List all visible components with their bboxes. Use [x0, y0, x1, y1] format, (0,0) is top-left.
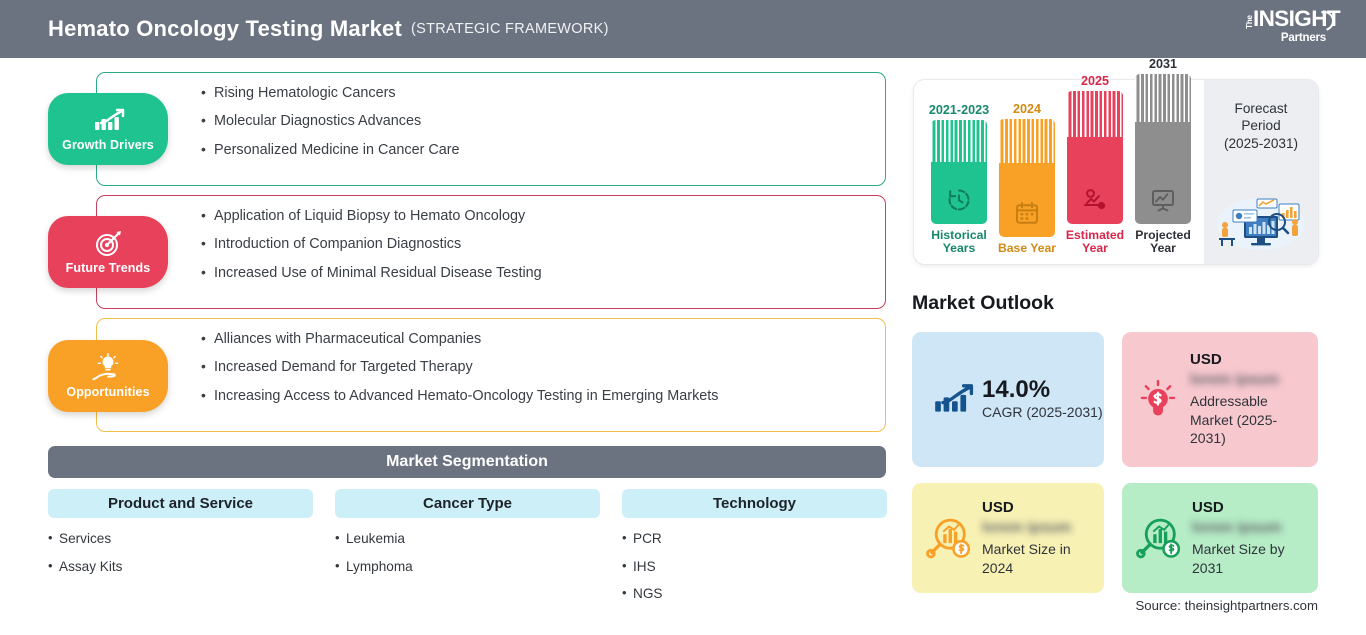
list-item: Increasing Access to Advanced Hemato-Onc… [201, 389, 871, 403]
infographic-page: Hemato Oncology Testing Market (STRATEGI… [0, 0, 1366, 635]
clock-history-icon [946, 187, 972, 213]
forecast-timeline-panel: 2021-2023 Historical Years 2024 [914, 80, 1318, 264]
market-size-2031-usd-label: USD [1192, 499, 1300, 516]
segment-header: Technology [622, 489, 887, 518]
opportunities-bullets: Alliances with Pharmaceutical Companies … [97, 319, 885, 416]
segment-items: PCR IHS NGS [622, 532, 887, 601]
magnifier-chart-dollar-icon [926, 515, 972, 561]
badge-growth-drivers[interactable]: Growth Drivers [48, 93, 168, 165]
forecast-year: 2024 [996, 102, 1058, 116]
bar-stripe-pattern [1067, 91, 1123, 137]
lightbulb-hand-icon [91, 353, 125, 383]
forecast-period-line1: Forecast [1204, 100, 1318, 117]
forecast-year: 2025 [1064, 74, 1126, 88]
forecast-period-panel: Forecast Period (2025-2031) [1204, 80, 1318, 264]
bar-chart-arrow-up-icon [91, 106, 125, 136]
logo-partners-text: Partners [1212, 33, 1326, 45]
list-item: NGS [622, 587, 887, 601]
growth-drivers-bullets: Rising Hematologic Cancers Molecular Dia… [97, 73, 885, 170]
forecast-period-line2: Period [1204, 117, 1318, 134]
bar-stripe-pattern [931, 120, 987, 162]
forecast-label: Projected Year [1132, 229, 1194, 256]
list-item: PCR [622, 532, 887, 546]
list-item: Lymphoma [335, 560, 600, 574]
segmentation-column-technology: Technology PCR IHS NGS [622, 489, 887, 615]
bar-stripe-pattern [999, 119, 1055, 163]
market-outlook-title: Market Outlook [912, 292, 1054, 315]
forecast-label: Estimated Year [1064, 229, 1126, 256]
market-size-2024-usd-label: USD [982, 499, 1090, 516]
future-trends-box: Application of Liquid Biopsy to Hemato O… [96, 195, 886, 309]
list-item: Rising Hematologic Cancers [201, 86, 871, 100]
addressable-caption: Addressable Market (2025-2031) [1190, 392, 1298, 449]
cagr-value: 14.0% [982, 377, 1103, 402]
forecast-period-range: (2025-2031) [1204, 135, 1318, 152]
forecast-chart-icon [1082, 187, 1108, 213]
forecast-year: 2021-2023 [928, 103, 990, 117]
addressable-usd-label: USD [1190, 351, 1298, 368]
cagr-caption: CAGR (2025-2031) [982, 403, 1103, 422]
growth-drivers-box: Rising Hematologic Cancers Molecular Dia… [96, 72, 886, 186]
magnifier-chart-dollar-icon [1136, 515, 1182, 561]
target-dart-icon [91, 229, 125, 259]
page-subtitle: (STRATEGIC FRAMEWORK) [411, 21, 609, 37]
page-header: Hemato Oncology Testing Market (STRATEGI… [0, 0, 1366, 58]
list-item: Increased Use of Minimal Residual Diseas… [201, 266, 871, 280]
card-addressable-market[interactable]: USD lorem ipsum Addressable Market (2025… [1122, 332, 1318, 467]
calendar-icon [1014, 200, 1040, 226]
badge-label: Future Trends [66, 261, 151, 275]
card-market-size-2024[interactable]: USD lorem ipsum Market Size in 2024 [912, 483, 1104, 593]
forecast-bar-historical: 2021-2023 Historical Years [928, 103, 990, 256]
badge-label: Opportunities [66, 385, 149, 399]
badge-opportunities[interactable]: Opportunities [48, 340, 168, 412]
badge-label: Growth Drivers [62, 138, 154, 152]
list-item: Introduction of Companion Diagnostics [201, 237, 871, 251]
forecast-bar-base: 2024 [996, 102, 1058, 256]
segmentation-column-product-and-service: Product and Service Services Assay Kits [48, 489, 313, 587]
segment-items: Leukemia Lymphoma [335, 532, 600, 573]
list-item: Application of Liquid Biopsy to Hemato O… [201, 209, 871, 223]
market-size-2031-caption: Market Size by 2031 [1192, 540, 1300, 578]
lightbulb-dollar-icon [1136, 377, 1180, 423]
card-cagr[interactable]: 14.0% CAGR (2025-2031) [912, 332, 1104, 467]
list-item: Molecular Diagnostics Advances [201, 114, 871, 128]
forecast-bar-shape [931, 120, 987, 224]
list-item: Services [48, 532, 313, 546]
list-item: IHS [622, 560, 887, 574]
forecast-label: Base Year [996, 242, 1058, 256]
market-size-2024-value-blurred: lorem ipsum [982, 519, 1090, 536]
market-size-2031-value-blurred: lorem ipsum [1192, 519, 1300, 536]
data-analysis-illustration [1211, 194, 1311, 250]
bar-stripe-pattern [1135, 74, 1191, 122]
source-attribution: Source: theinsightpartners.com [1135, 598, 1318, 613]
forecast-bars: 2021-2023 Historical Years 2024 [914, 80, 1204, 264]
forecast-bar-estimated: 2025 Estimated Year [1064, 74, 1126, 256]
segment-header: Cancer Type [335, 489, 600, 518]
market-segmentation-title: Market Segmentation [48, 446, 886, 478]
segment-items: Services Assay Kits [48, 532, 313, 573]
page-title: Hemato Oncology Testing Market [48, 16, 402, 42]
forecast-bar-projected: 2031 Projected Year [1132, 57, 1194, 256]
list-item: Alliances with Pharmaceutical Companies [201, 332, 871, 346]
logo-the-text: The [1246, 15, 1254, 29]
forecast-year: 2031 [1132, 57, 1194, 71]
list-item: Personalized Medicine in Cancer Care [201, 143, 871, 157]
forecast-bar-shape [999, 119, 1055, 237]
addressable-value-blurred: lorem ipsum [1190, 371, 1298, 388]
list-item: Leukemia [335, 532, 600, 546]
segment-header: Product and Service [48, 489, 313, 518]
list-item: Assay Kits [48, 560, 313, 574]
bar-chart-arrow-up-icon [930, 379, 974, 421]
opportunities-box: Alliances with Pharmaceutical Companies … [96, 318, 886, 432]
segmentation-column-cancer-type: Cancer Type Leukemia Lymphoma [335, 489, 600, 587]
future-trends-bullets: Application of Liquid Biopsy to Hemato O… [97, 196, 885, 293]
badge-future-trends[interactable]: Future Trends [48, 216, 168, 288]
market-size-2024-caption: Market Size in 2024 [982, 540, 1090, 578]
list-item: Increased Demand for Targeted Therapy [201, 360, 871, 374]
forecast-bar-shape [1135, 74, 1191, 224]
presentation-screen-icon [1150, 187, 1176, 213]
forecast-label: Historical Years [928, 229, 990, 256]
card-market-size-2031[interactable]: USD lorem ipsum Market Size by 2031 [1122, 483, 1318, 593]
insight-partners-logo: The INSIGHT Partners [1212, 8, 1340, 52]
forecast-bar-shape [1067, 91, 1123, 224]
